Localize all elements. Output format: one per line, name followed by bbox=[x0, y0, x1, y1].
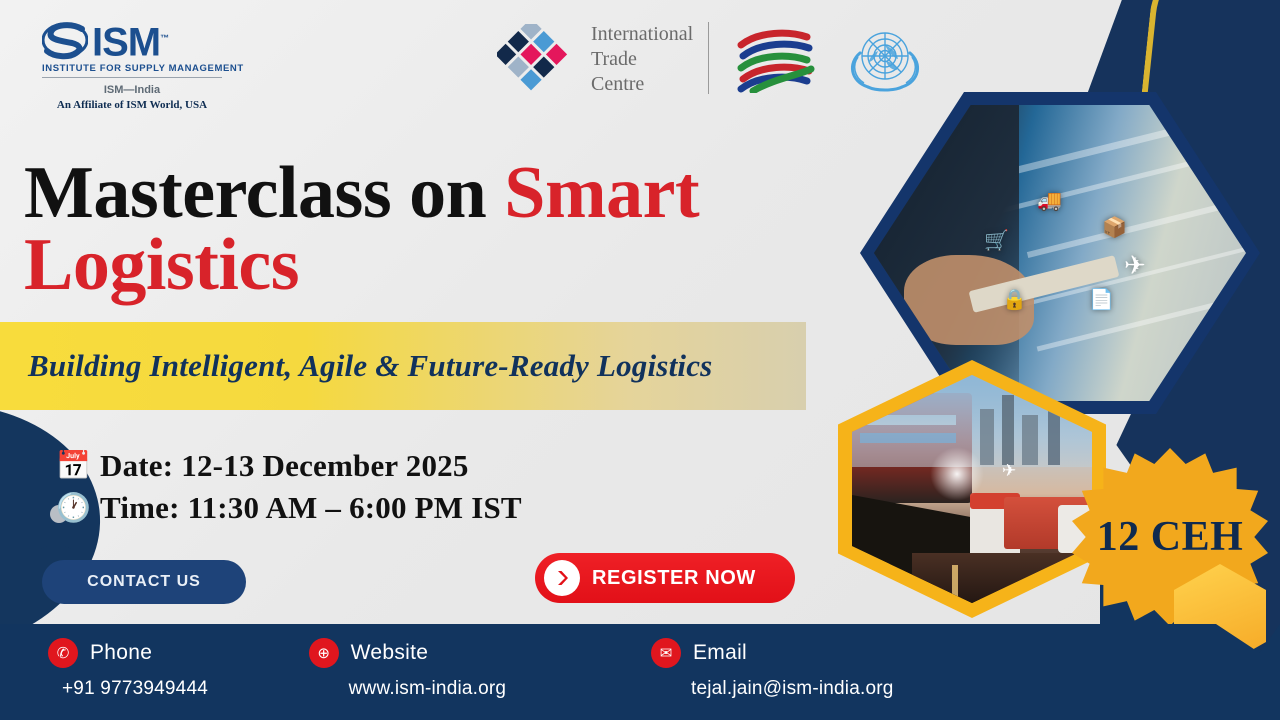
itc-name: International Trade Centre bbox=[591, 22, 693, 97]
itc-diamond-icon bbox=[497, 24, 575, 96]
ism-tagline: INSTITUTE FOR SUPPLY MANAGEMENT bbox=[42, 63, 222, 78]
subtitle-text: Building Intelligent, Agile & Future-Rea… bbox=[0, 348, 712, 384]
event-date: Date: 12-13 December 2025 bbox=[100, 448, 469, 484]
globe-icon: ⊕ bbox=[309, 638, 339, 668]
document-icon: 📄 bbox=[1089, 287, 1114, 312]
date-line: 📅 Date: 12-13 December 2025 bbox=[56, 448, 522, 484]
itc-line-1: International bbox=[591, 22, 693, 47]
footer-phone-label: Phone bbox=[90, 641, 152, 665]
contact-us-button[interactable]: CONTACT US bbox=[42, 560, 246, 604]
package-icon: 📦 bbox=[1102, 215, 1127, 240]
page-title: Masterclass on Smart Logistics bbox=[24, 158, 804, 302]
ism-wordmark: ISM™ bbox=[92, 18, 168, 62]
event-time: Time: 11:30 AM – 6:00 PM IST bbox=[100, 490, 522, 526]
ism-logo: ISM™ INSTITUTE FOR SUPPLY MANAGEMENT ISM… bbox=[42, 18, 222, 111]
footer-contact-list: ✆ Phone +91 9773949444 ⊕ Website www.ism… bbox=[0, 624, 1040, 720]
register-now-button[interactable]: REGISTER NOW bbox=[535, 553, 795, 603]
lock-icon: 🔒 bbox=[1002, 287, 1027, 312]
un-logo-icon bbox=[838, 23, 932, 95]
subtitle-banner: Building Intelligent, Agile & Future-Rea… bbox=[0, 322, 806, 410]
footer-email-head: ✉ Email bbox=[651, 638, 1040, 668]
ism-logo-mark: ISM™ bbox=[42, 18, 222, 62]
footer-phone-head: ✆ Phone bbox=[48, 638, 309, 668]
footer-email-label: Email bbox=[693, 641, 747, 665]
title-accent-logistics: Logistics bbox=[24, 224, 299, 306]
wto-logo-icon bbox=[733, 25, 817, 93]
logo-divider bbox=[708, 22, 709, 94]
poster-canvas: ISM™ INSTITUTE FOR SUPPLY MANAGEMENT ISM… bbox=[0, 0, 1280, 720]
phone-icon: ✆ bbox=[48, 638, 78, 668]
footer-item-phone: ✆ Phone +91 9773949444 bbox=[48, 624, 309, 720]
footer-website-head: ⊕ Website bbox=[309, 638, 651, 668]
time-line: 🕐 Time: 11:30 AM – 6:00 PM IST bbox=[56, 490, 522, 526]
envelope-icon: ✉ bbox=[651, 638, 681, 668]
ism-word-text: ISM bbox=[92, 20, 160, 64]
footer-item-website: ⊕ Website www.ism-india.org bbox=[309, 624, 651, 720]
arrow-circle-icon bbox=[544, 560, 580, 596]
register-now-label: REGISTER NOW bbox=[592, 567, 756, 590]
ism-india-label: ISM—India bbox=[42, 84, 222, 96]
itc-logo: International Trade Centre bbox=[497, 22, 693, 97]
plane-icon: ✈ bbox=[1124, 250, 1146, 281]
footer-phone-value[interactable]: +91 9773949444 bbox=[62, 678, 309, 700]
ism-affiliate-label: An Affiliate of ISM World, USA bbox=[42, 99, 222, 111]
chevron-right-icon bbox=[552, 568, 572, 588]
footer-website-label: Website bbox=[351, 641, 429, 665]
airplane-overlay-icon: ✈ bbox=[1002, 461, 1016, 481]
calendar-icon: 📅 bbox=[56, 452, 88, 480]
title-accent-smart: Smart bbox=[504, 152, 699, 234]
contact-us-label: CONTACT US bbox=[87, 573, 201, 591]
title-primary: Masterclass on bbox=[24, 152, 504, 234]
clock-icon: 🕐 bbox=[56, 494, 88, 522]
footer-email-value[interactable]: tejal.jain@ism-india.org bbox=[691, 678, 1040, 700]
truck-icon: 🚚 bbox=[1037, 188, 1062, 213]
footer-website-value[interactable]: www.ism-india.org bbox=[349, 678, 651, 700]
itc-line-3: Centre bbox=[591, 72, 693, 97]
itc-line-2: Trade bbox=[591, 47, 693, 72]
ceh-badge-text: 12 CEH bbox=[1097, 513, 1244, 561]
ism-swirl-icon bbox=[42, 19, 88, 61]
footer-item-email: ✉ Email tejal.jain@ism-india.org bbox=[651, 624, 1040, 720]
cart-icon: 🛒 bbox=[984, 228, 1009, 253]
ism-trademark: ™ bbox=[160, 33, 168, 43]
event-details: 📅 Date: 12-13 December 2025 🕐 Time: 11:3… bbox=[56, 448, 522, 532]
